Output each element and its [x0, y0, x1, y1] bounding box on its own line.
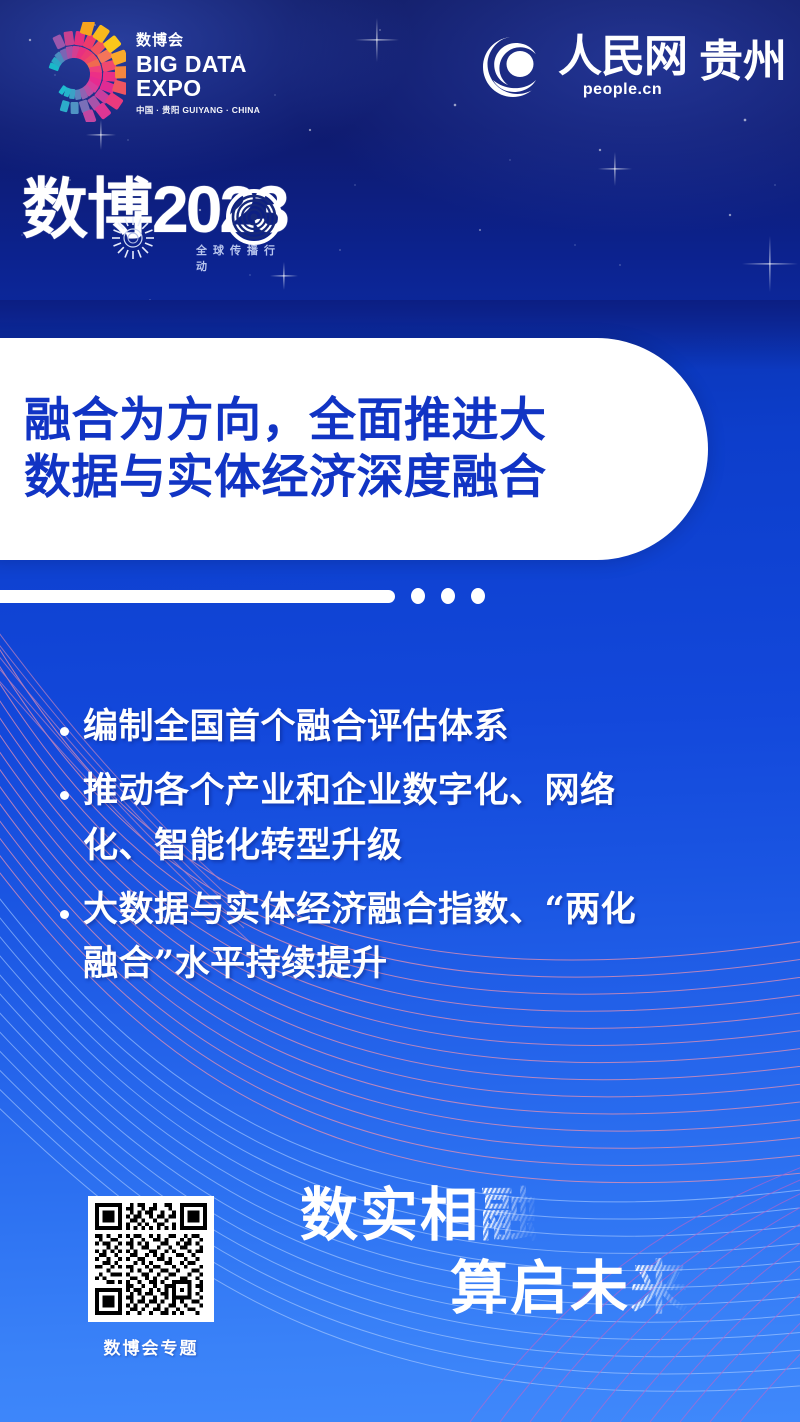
slogan-line-1: 数实相融: [300, 1185, 800, 1246]
qr-code[interactable]: [95, 1203, 207, 1315]
bullet-dot-icon: [60, 727, 69, 736]
expo-logo-text: 数博会 BIG DATA EXPO 中国 · 贵阳 GUIYANG · CHIN…: [136, 29, 260, 115]
headline-line-2: 数据与实体经济深度融合: [24, 449, 590, 506]
qr-code-frame: [88, 1196, 214, 1322]
bullet-dot-icon: [60, 910, 69, 919]
shubo-subtitle: 全球传播行动: [196, 242, 287, 274]
divider-bar: [0, 590, 395, 603]
people-cn-name: 人民网: [558, 35, 687, 79]
people-cn-logo: 人民网 people.cn 贵州: [480, 34, 787, 100]
list-item: 推动各个产业和企业数字化、网络化、智能化转型升级: [60, 764, 790, 873]
expo-cn-name: 数博会: [136, 33, 260, 48]
bullet-text: 大数据与实体经济融合指数、“两化融合”水平持续提升: [83, 883, 636, 992]
people-cn-region: 贵州: [699, 40, 787, 84]
big-data-expo-spiral-icon: [22, 22, 126, 122]
slogan-line-2-fade: 来: [630, 1254, 690, 1322]
people-cn-wordmark: 人民网 people.cn: [558, 35, 687, 99]
concentric-circle-icon: [225, 188, 283, 246]
slogan-line-2: 算启未来: [450, 1258, 800, 1319]
slogan-line-2-solid: 算启未: [450, 1254, 630, 1322]
shubo-2023-lockup: 数博 2023: [22, 176, 287, 243]
list-item: 编制全国首个融合评估体系: [60, 700, 790, 754]
data-ring-icon: [107, 212, 159, 264]
slogan-line-1-solid: 数实相: [300, 1181, 480, 1249]
divider: [0, 588, 485, 604]
poster-canvas: 数博会 BIG DATA EXPO 中国 · 贵阳 GUIYANG · CHIN…: [0, 0, 800, 1422]
bottom-slogan: 数实相融 算启未来: [300, 1185, 800, 1319]
divider-dot-2: [441, 588, 455, 604]
qr-caption: 数博会专题: [88, 1334, 214, 1359]
divider-dot-3: [471, 588, 485, 604]
people-cn-globe-icon: [480, 34, 546, 100]
bullet-list: 编制全国首个融合评估体系 推动各个产业和企业数字化、网络化、智能化转型升级 大数…: [60, 700, 790, 1001]
headline-line-1: 融合为方向，全面推进大: [24, 392, 590, 449]
expo-location: 中国 · 贵阳 GUIYANG · CHINA: [136, 106, 260, 115]
qr-code-block[interactable]: 数博会专题: [88, 1196, 214, 1359]
big-data-expo-logo: 数博会 BIG DATA EXPO 中国 · 贵阳 GUIYANG · CHIN…: [22, 22, 260, 122]
expo-en-line2: EXPO: [136, 77, 260, 100]
expo-en-line1: BIG DATA: [136, 53, 260, 76]
divider-dot-1: [411, 588, 425, 604]
bullet-dot-icon: [60, 791, 69, 800]
headline-panel: 融合为方向，全面推进大 数据与实体经济深度融合: [0, 338, 708, 560]
slogan-line-1-fade: 融: [480, 1181, 540, 1249]
bullet-text: 推动各个产业和企业数字化、网络化、智能化转型升级: [83, 764, 616, 873]
list-item: 大数据与实体经济融合指数、“两化融合”水平持续提升: [60, 883, 790, 992]
people-cn-domain: people.cn: [558, 81, 687, 99]
bullet-text: 编制全国首个融合评估体系: [83, 700, 509, 754]
